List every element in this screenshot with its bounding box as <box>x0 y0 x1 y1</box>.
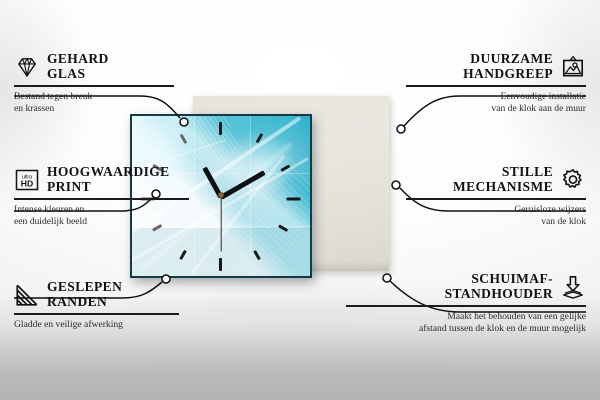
feature-title: STILLE MECHANISME <box>453 165 553 194</box>
feature-description: Eenvoudige installatie van de klok aan d… <box>406 91 586 115</box>
hour-tick-11 <box>180 134 187 144</box>
hour-tick-6 <box>219 258 222 271</box>
feature-desc-line1: Gladde en veilige afwerking <box>14 319 123 330</box>
feature-heading: SCHUIMAF- STANDHOUDER <box>346 272 586 301</box>
diamond-icon <box>14 54 40 80</box>
press-pad-icon <box>560 274 586 300</box>
feature-description: Gladde en veilige afwerking <box>14 319 179 331</box>
feature-desc-line1: Maakt het behouden van een gelijke <box>447 311 586 322</box>
feature-title-line1: GESLEPEN <box>47 279 122 294</box>
feature-title-line2: RANDEN <box>47 294 107 309</box>
ultra-hd-icon: ultra HD <box>14 167 40 193</box>
feature-title-line1: DUURZAME <box>470 51 553 66</box>
divider <box>14 85 174 86</box>
clock-center-cap <box>218 192 224 198</box>
feature-desc-line2: en krassen <box>14 103 54 114</box>
feature-description: Intense kleuren en een duidelijk beeld <box>14 204 189 228</box>
hour-tick-12 <box>219 122 222 135</box>
feature-title-line2: MECHANISME <box>453 179 553 194</box>
divider <box>14 313 179 314</box>
clock-minute-hand <box>220 170 266 199</box>
feature-title-line2: GLAS <box>47 66 85 81</box>
feature-description: Geruisloze wijzers van de klok <box>406 204 586 228</box>
hour-tick-5 <box>254 250 261 260</box>
feature-title: HOOGWAARDIGE PRINT <box>47 165 170 194</box>
feature-desc-line2: van de klok <box>541 216 586 227</box>
feature-title-line2: PRINT <box>47 179 91 194</box>
hour-tick-1 <box>256 133 263 143</box>
divider <box>406 85 586 86</box>
feature-title: GESLEPEN RANDEN <box>47 280 122 309</box>
framed-picture-icon <box>560 54 586 80</box>
feature-title-line1: HOOGWAARDIGE <box>47 164 170 179</box>
divider <box>406 198 586 199</box>
bevelled-edges-icon <box>14 282 40 308</box>
feature-gehard-glas[interactable]: GEHARD GLAS Bestand tegen breuk en krass… <box>14 52 174 115</box>
feature-description: Bestand tegen breuk en krassen <box>14 91 174 115</box>
feature-title-line1: SCHUIMAF- <box>471 271 553 286</box>
feature-desc-line1: Geruisloze wijzers <box>514 204 586 215</box>
feature-desc-line1: Intense kleuren en <box>14 204 84 215</box>
feature-heading: GESLEPEN RANDEN <box>14 280 179 309</box>
feature-heading: STILLE MECHANISME <box>406 165 586 194</box>
feature-duurzame-handgreep[interactable]: DUURZAME HANDGREEP Eenvoudige installati… <box>406 52 586 115</box>
clock-second-hand <box>220 196 221 252</box>
feature-stille-mechanisme[interactable]: STILLE MECHANISME Geruisloze wijzers van… <box>406 165 586 228</box>
feature-desc-line1: Bestand tegen breuk <box>14 91 92 102</box>
feature-hoogwaardige-print[interactable]: ultra HD HOOGWAARDIGE PRINT Intense kleu… <box>14 165 189 228</box>
hour-tick-2 <box>280 164 290 171</box>
gear-icon <box>560 167 586 193</box>
infographic-canvas: GEHARD GLAS Bestand tegen breuk en krass… <box>0 0 600 400</box>
feature-desc-line2: een duidelijk beeld <box>14 216 87 227</box>
feature-schuimafstandhouder[interactable]: SCHUIMAF- STANDHOUDER Maakt het behouden… <box>346 272 586 335</box>
feature-heading: GEHARD GLAS <box>14 52 174 81</box>
feature-heading: ultra HD HOOGWAARDIGE PRINT <box>14 165 189 194</box>
feature-desc-line1: Eenvoudige installatie <box>500 91 586 102</box>
feature-heading: DUURZAME HANDGREEP <box>406 52 586 81</box>
hour-tick-7 <box>180 250 187 260</box>
feature-title-line2: STANDHOUDER <box>445 286 553 301</box>
feature-geslepen-randen[interactable]: GESLEPEN RANDEN Gladde en veilige afwerk… <box>14 280 179 331</box>
feature-desc-line2: afstand tussen de klok en de muur mogeli… <box>419 323 586 334</box>
feature-title: SCHUIMAF- STANDHOUDER <box>445 272 553 301</box>
feature-title-line2: HANDGREEP <box>463 66 553 81</box>
hour-tick-4 <box>278 224 288 231</box>
feature-desc-line2: van de klok aan de muur <box>491 103 586 114</box>
feature-description: Maakt het behouden van een gelijke afsta… <box>346 311 586 335</box>
svg-text:HD: HD <box>21 178 33 188</box>
divider <box>14 198 189 199</box>
feature-title: GEHARD GLAS <box>47 52 109 81</box>
divider <box>346 305 586 306</box>
hour-tick-3 <box>287 198 301 201</box>
feature-title: DUURZAME HANDGREEP <box>463 52 553 81</box>
feature-title-line1: STILLE <box>502 164 553 179</box>
feature-title-line1: GEHARD <box>47 51 109 66</box>
